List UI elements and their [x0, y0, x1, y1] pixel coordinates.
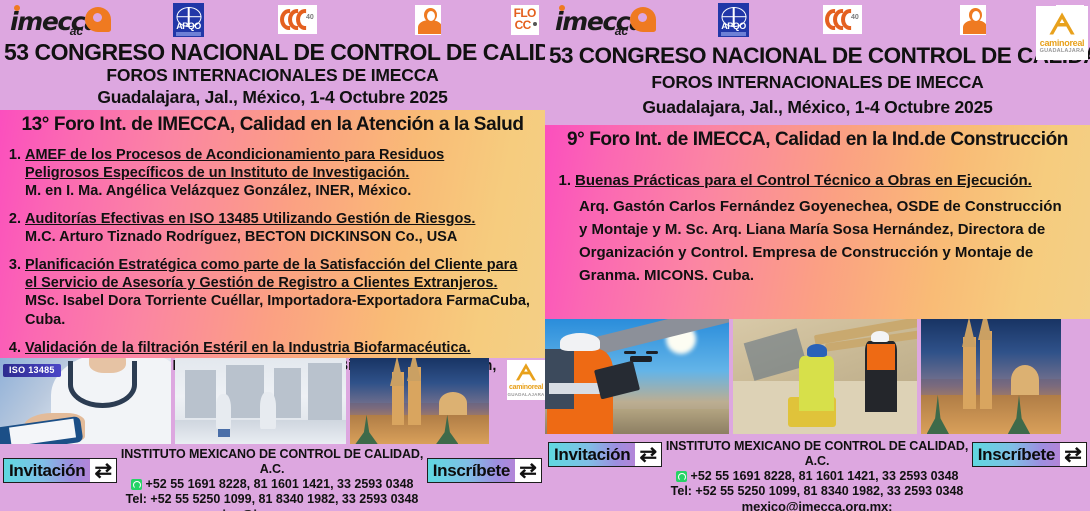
- whatsapp-number-text: +52 55 1691 8228, 81 1601 1421, 33 2593 …: [691, 469, 959, 484]
- email-addresses[interactable]: mexico@imecca.org.mx; monterrey@imecca.o…: [664, 499, 969, 511]
- camino-real-hotel-logo: ᗅ caminoreal GUADALAJARA: [507, 360, 545, 400]
- register-label: Inscríbete: [973, 443, 1060, 466]
- whatsapp-number-text: +52 55 1691 8228, 81 1601 1421, 33 2593 …: [146, 477, 414, 492]
- worker-vest-shape: [867, 344, 895, 369]
- forum-title-construction: 9° Foro Int. de IMECCA, Calidad en la In…: [545, 125, 1090, 155]
- contact-block: INSTITUTO MEXICANO DE CONTROL DE CALIDAD…: [117, 447, 426, 511]
- lab-worker-shape: [260, 392, 275, 428]
- whatsapp-numbers: +52 55 1691 8228, 81 1601 1421, 33 2593 …: [119, 477, 424, 492]
- cathedral-tower-shape: [980, 331, 993, 409]
- apqo-logo: APQO: [718, 3, 749, 37]
- apqo-badge: APQO: [718, 3, 749, 37]
- talk-title[interactable]: Planificación Estratégica como parte de …: [25, 256, 537, 274]
- talk-number: 2.: [8, 210, 25, 247]
- talk-title-cont[interactable]: el Servicio de Asesoría y Gestión de Reg…: [25, 274, 537, 292]
- ccc-logo: 40: [823, 5, 862, 34]
- blue-hard-hat-shape: [807, 344, 827, 357]
- list-item: 2. Auditorías Efectivas en ISO 13485 Uti…: [8, 210, 537, 247]
- talk-author: Arq. Gastón Carlos Fernández Goyenechea,…: [575, 191, 1068, 287]
- cathedral-tower-shape: [963, 337, 976, 408]
- ccc-small-text: 40: [851, 14, 859, 21]
- list-item: 1. Buenas Prácticas para el Control Técn…: [553, 171, 1082, 287]
- glass-panel-shape: [743, 328, 807, 381]
- register-label: Inscríbete: [428, 459, 515, 482]
- fem-quality-badge: [415, 5, 441, 35]
- lab-machine-shape: [185, 370, 216, 418]
- photo-pharmaceutical-lab: [175, 358, 346, 444]
- ccc-logo: 40: [278, 5, 317, 34]
- camino-real-city: GUADALAJARA: [508, 392, 545, 397]
- camino-real-name: caminoreal: [1040, 38, 1085, 48]
- register-button[interactable]: Inscríbete ⇄: [972, 442, 1087, 467]
- share-arrow-icon: ⇄: [515, 459, 541, 482]
- apqo-label: APQO: [173, 21, 204, 31]
- cathedral-spire-shape: [390, 358, 404, 386]
- photo-strip-construction: ᗅ caminoreal GUADALAJARA: [545, 319, 1090, 434]
- talk-title[interactable]: Validación de la filtración Estéril en l…: [25, 339, 537, 357]
- talk-list-health: 1. AMEF de los Procesos de Acondicionami…: [0, 140, 545, 395]
- imecca-speech-icon: [85, 6, 113, 34]
- imecca-dot-icon: [14, 5, 20, 11]
- lab-worker-shape: [216, 394, 231, 428]
- photo-guadalajara-cathedral: [350, 358, 489, 444]
- imecca-speech-icon: [630, 6, 658, 34]
- whatsapp-numbers: +52 55 1691 8228, 81 1601 1421, 33 2593 …: [664, 469, 969, 484]
- apqo-badge: APQO: [173, 3, 204, 37]
- stethoscope-icon: [68, 361, 136, 407]
- share-arrow-icon: ⇄: [635, 443, 661, 466]
- figure-face-icon: [972, 11, 980, 21]
- sponsor-logo-row: imecca ac APQO 40: [545, 0, 1090, 38]
- fem-quality-badge: [960, 5, 986, 35]
- invitation-button[interactable]: Invitación ⇄: [3, 458, 117, 483]
- apqo-label: APQO: [718, 21, 749, 31]
- cathedral-dome-shape: [439, 392, 467, 414]
- talk-author: M.C. Arturo Tiznado Rodríguez, BECTON DI…: [25, 228, 537, 247]
- talk-author: MSc. Isabel Dora Torriente Cuéllar, Impo…: [25, 292, 537, 330]
- congress-location: Guadalajara, Jal., México, 1-4 Octubre 2…: [549, 96, 1086, 118]
- poster-pair: imecca ac APQO 40: [0, 0, 1090, 511]
- organization-name: INSTITUTO MEXICANO DE CONTROL DE CALIDAD…: [119, 447, 424, 477]
- camino-real-mark-icon: ᗅ: [1049, 12, 1075, 38]
- photo-engineer-drone-crane: [545, 319, 729, 434]
- camino-real-mark-icon: ᗅ: [516, 364, 537, 384]
- talk-author: M. en I. Ma. Angélica Velázquez González…: [25, 182, 537, 201]
- imecca-ac-label: ac: [615, 24, 628, 38]
- apqo-logo: APQO: [173, 3, 204, 37]
- hard-hat-shape: [560, 333, 600, 351]
- forum-title-health: 13° Foro Int. de IMECCA, Calidad en la A…: [0, 110, 545, 140]
- congress-subtitle: FOROS INTERNACIONALES DE IMECCA: [549, 72, 1086, 93]
- email-addresses[interactable]: mexico@imecca.org.mx; monterrey@imecca.o…: [119, 507, 424, 511]
- poster-right-construction: imecca ac APQO 40: [545, 0, 1090, 511]
- flocc-dot-icon: [533, 22, 537, 26]
- congress-title-block: 53 CONGRESO NACIONAL DE CONTROL DE CALID…: [0, 38, 545, 108]
- invitation-button[interactable]: Invitación ⇄: [548, 442, 662, 467]
- imecca-logo: imecca ac: [551, 6, 658, 34]
- figure-body-icon: [963, 20, 986, 34]
- whatsapp-icon: [131, 479, 142, 490]
- flocc-logo: FLO CC: [511, 5, 539, 35]
- right-forum-body: 9° Foro Int. de IMECCA, Calidad en la In…: [545, 125, 1090, 319]
- camino-real-name: caminoreal: [509, 384, 543, 392]
- imecca-ac-label: ac: [70, 24, 83, 38]
- worker-shirt-shape: [545, 349, 574, 409]
- footer-right: Invitación ⇄ INSTITUTO MEXICANO DE CONTR…: [545, 434, 1090, 511]
- invitation-label: Invitación: [549, 443, 635, 466]
- poster-left-health: imecca ac APQO 40: [0, 0, 545, 511]
- register-button[interactable]: Inscríbete ⇄: [427, 458, 542, 483]
- talk-list-construction: 1. Buenas Prácticas para el Control Técn…: [545, 155, 1090, 287]
- list-item: 3. Planificación Estratégica como parte …: [8, 256, 537, 330]
- cathedral-dome-shape: [1011, 365, 1039, 395]
- sponsor-logo-row: imecca ac APQO 40: [0, 0, 545, 38]
- footer-left: Invitación ⇄ INSTITUTO MEXICANO DE CONTR…: [0, 444, 545, 511]
- ccc-badge: 40: [278, 5, 317, 34]
- congress-location: Guadalajara, Jal., México, 1-4 Octubre 2…: [4, 86, 541, 108]
- talk-title-cont[interactable]: Peligrosos Específicos de un Instituto d…: [25, 164, 537, 182]
- white-hard-hat-shape: [871, 331, 889, 343]
- photo-strip-health: ISO 13485: [0, 358, 545, 444]
- ccc-small-text: 40: [306, 14, 314, 21]
- worker-shoe-shape: [218, 429, 230, 438]
- whatsapp-icon: [676, 471, 687, 482]
- lab-machine-shape: [308, 363, 342, 420]
- talk-title[interactable]: AMEF de los Procesos de Acondicionamient…: [25, 146, 537, 164]
- talk-number: 1.: [8, 146, 25, 201]
- camino-real-city: GUADALAJARA: [1040, 48, 1085, 54]
- talk-title[interactable]: Auditorías Efectivas en ISO 13485 Utiliz…: [25, 210, 537, 228]
- organization-name: INSTITUTO MEXICANO DE CONTROL DE CALIDAD…: [664, 439, 969, 469]
- telephone-numbers: Tel: +52 55 5250 1099, 81 8340 1982, 33 …: [664, 484, 969, 499]
- apqo-bar: [176, 32, 201, 36]
- fem-quality-logo: [415, 5, 441, 35]
- fem-quality-logo: [960, 5, 986, 35]
- congress-subtitle: FOROS INTERNACIONALES DE IMECCA: [4, 65, 541, 86]
- camino-real-hotel-logo: ᗅ caminoreal GUADALAJARA: [1036, 6, 1088, 60]
- figure-face-icon: [427, 11, 435, 21]
- worker-body-shape: [799, 356, 834, 411]
- telephone-numbers: Tel: +52 55 5250 1099, 81 8340 1982, 33 …: [119, 492, 424, 507]
- apqo-bar: [721, 32, 746, 36]
- lab-machine-shape: [274, 368, 301, 418]
- talk-number: 3.: [8, 256, 25, 330]
- photo-roof-workers: [733, 319, 917, 434]
- photo-guadalajara-cathedral: [921, 319, 1061, 434]
- share-arrow-icon: ⇄: [1060, 443, 1086, 466]
- left-forum-body: 13° Foro Int. de IMECCA, Calidad en la A…: [0, 110, 545, 358]
- invitation-label: Invitación: [4, 459, 90, 482]
- contact-block: INSTITUTO MEXICANO DE CONTROL DE CALIDAD…: [662, 439, 971, 511]
- list-item: 1. AMEF de los Procesos de Acondicionami…: [8, 146, 537, 201]
- congress-title-block: 53 CONGRESO NACIONAL DE CONTROL DE CALID…: [545, 38, 1090, 118]
- cathedral-spire-shape: [407, 358, 421, 381]
- flocc-badge: FLO CC: [511, 5, 539, 35]
- congress-title: 53 CONGRESO NACIONAL DE CONTROL DE CALID…: [549, 43, 1086, 69]
- ccc-badge: 40: [823, 5, 862, 34]
- lab-machine-shape: [226, 365, 264, 418]
- iso-13485-badge: ISO 13485: [3, 364, 61, 377]
- photo-doctor-clipboard: ISO 13485: [0, 358, 171, 444]
- flocc-bottom-label: CC: [515, 19, 531, 32]
- talk-title[interactable]: Buenas Prácticas para el Control Técnico…: [575, 171, 1068, 191]
- figure-body-icon: [418, 20, 441, 34]
- share-arrow-icon: ⇄: [90, 459, 116, 482]
- cathedral-spire-shape: [978, 319, 992, 340]
- imecca-logo: imecca ac: [6, 6, 113, 34]
- congress-title: 53 CONGRESO NACIONAL DE CONTROL DE CALID…: [4, 39, 541, 65]
- imecca-dot-icon: [559, 5, 565, 11]
- cathedral-spire-shape: [962, 319, 976, 347]
- talk-number: 1.: [553, 171, 575, 287]
